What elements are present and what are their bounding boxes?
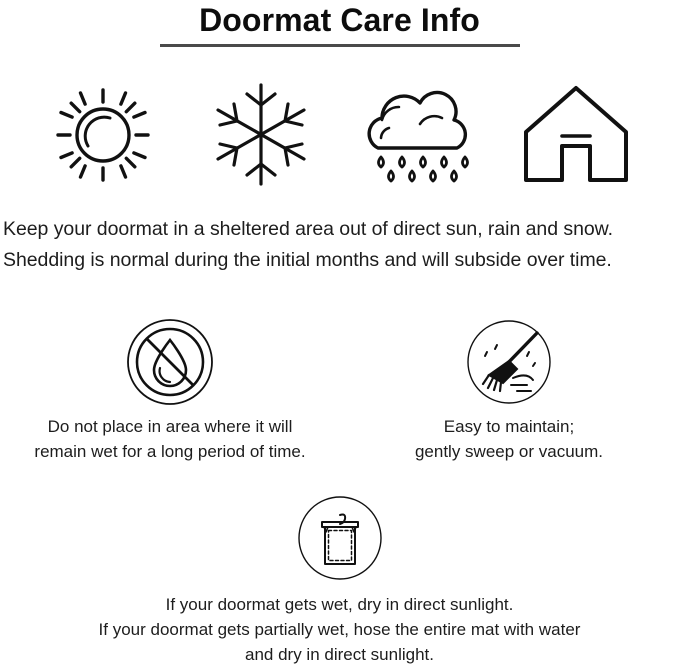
title-underline-rule [160, 44, 520, 47]
broom-icon [465, 318, 553, 406]
care-item-caption-line-1: Easy to maintain; [339, 414, 679, 439]
no-water-icon [126, 318, 214, 406]
page-title: Doormat Care Info [0, 0, 679, 38]
care-items-row: Do not place in area where it will remai… [0, 312, 679, 462]
care-item-caption-line-2: gently sweep or vacuum. [339, 439, 679, 464]
drying-section: If your doormat gets wet, dry in direct … [0, 488, 679, 667]
care-item-icon-holder [339, 312, 679, 412]
snowflake-icon [206, 77, 316, 192]
intro-paragraph: Keep your doormat in a sheltered area ou… [0, 214, 679, 276]
house-icon [516, 80, 636, 190]
care-item-caption-line-2: remain wet for a long period of time. [0, 439, 340, 464]
intro-line-1: Keep your doormat in a sheltered area ou… [3, 214, 679, 245]
hanging-dry-icon [296, 494, 384, 582]
weather-icon-cell-snowflake [191, 72, 331, 197]
care-item-caption-line-1: Do not place in area where it will [0, 414, 340, 439]
drying-caption-line-2: If your doormat gets partially wet, hose… [0, 617, 679, 642]
page-header: Doormat Care Info [0, 0, 679, 47]
sun-icon [48, 80, 158, 190]
care-item-no-water: Do not place in area where it will remai… [0, 312, 340, 464]
care-item-icon-holder [0, 312, 340, 412]
drying-icon-holder [0, 488, 679, 588]
care-item-caption: Easy to maintain; gently sweep or vacuum… [339, 414, 679, 464]
weather-icon-cell-rain [348, 72, 488, 197]
weather-icon-row [0, 72, 679, 197]
drying-caption: If your doormat gets wet, dry in direct … [0, 592, 679, 667]
care-item-sweep: Easy to maintain; gently sweep or vacuum… [339, 312, 679, 464]
weather-icon-cell-sun [33, 72, 173, 197]
intro-line-2: Shedding is normal during the initial mo… [3, 245, 679, 276]
rain-cloud-icon [358, 76, 478, 194]
care-item-caption: Do not place in area where it will remai… [0, 414, 340, 464]
weather-icon-cell-house [506, 72, 646, 197]
drying-caption-line-1: If your doormat gets wet, dry in direct … [0, 592, 679, 617]
